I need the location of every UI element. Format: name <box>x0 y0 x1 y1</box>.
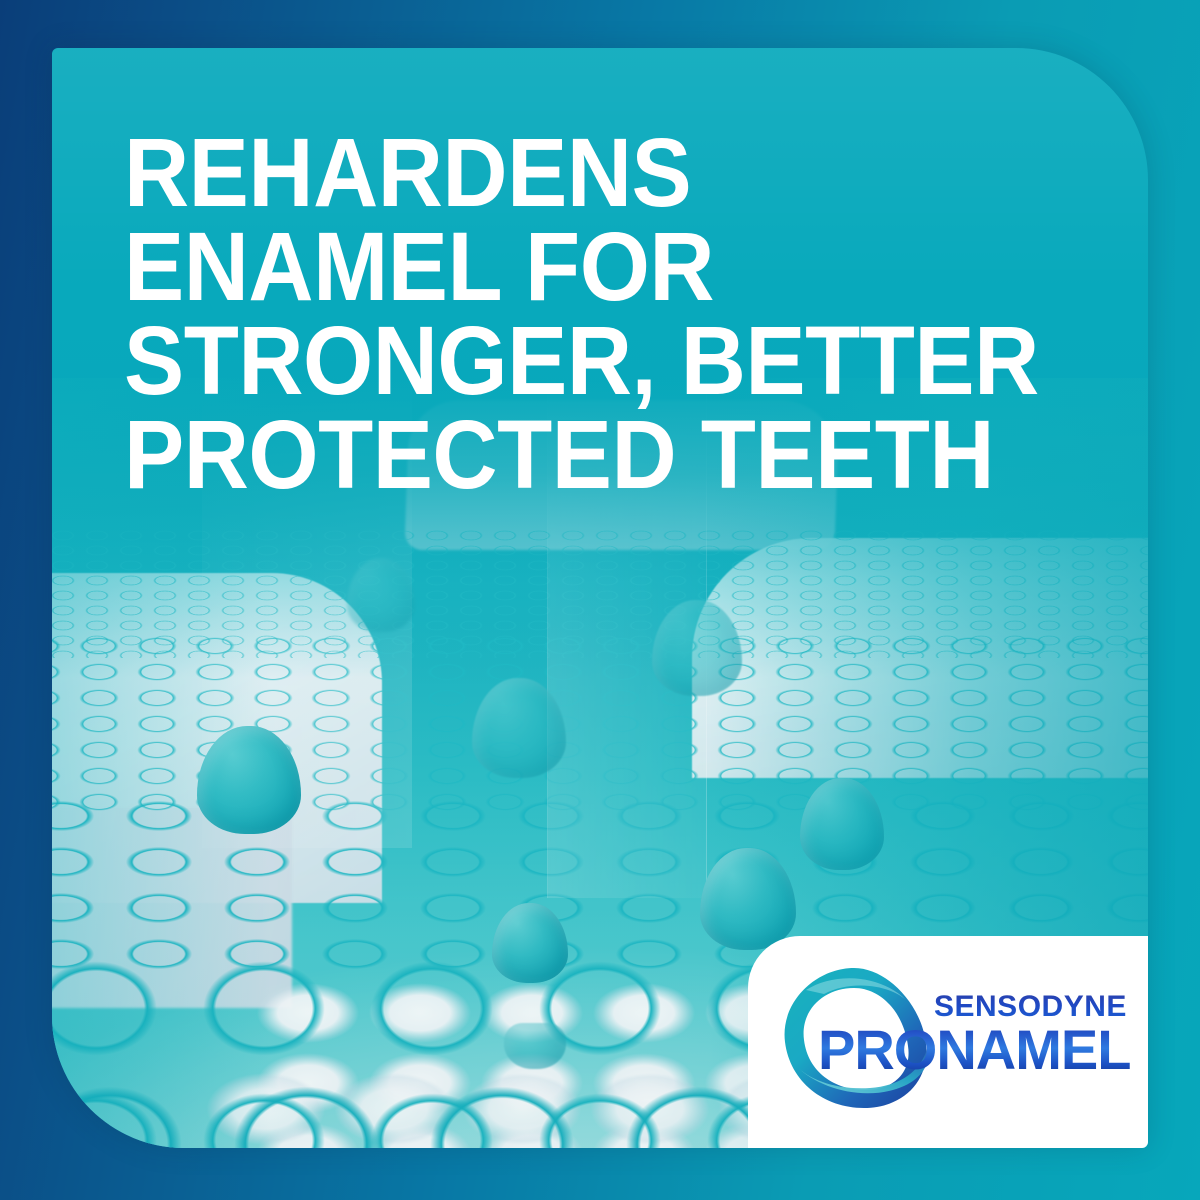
headline-line-2: ENAMEL FOR <box>124 220 980 314</box>
brand-logo-panel: SENSODYNE PRONAMEL <box>748 936 1148 1148</box>
headline-line-1: REHARDENS <box>124 126 980 220</box>
headline-line-3: STRONGER, BETTER <box>124 314 980 408</box>
ad-card: REHARDENS ENAMEL FOR STRONGER, BETTER PR… <box>52 48 1148 1148</box>
brand-logo-text: SENSODYNE PRONAMEL <box>782 962 1130 1112</box>
headline: REHARDENS ENAMEL FOR STRONGER, BETTER PR… <box>124 126 980 502</box>
logo-pronamel-wordmark: PRONAMEL <box>818 1017 1130 1082</box>
advertisement-root: REHARDENS ENAMEL FOR STRONGER, BETTER PR… <box>0 0 1200 1200</box>
brand-logo: SENSODYNE PRONAMEL <box>776 962 1128 1112</box>
headline-line-4: PROTECTED TEETH <box>124 408 980 502</box>
